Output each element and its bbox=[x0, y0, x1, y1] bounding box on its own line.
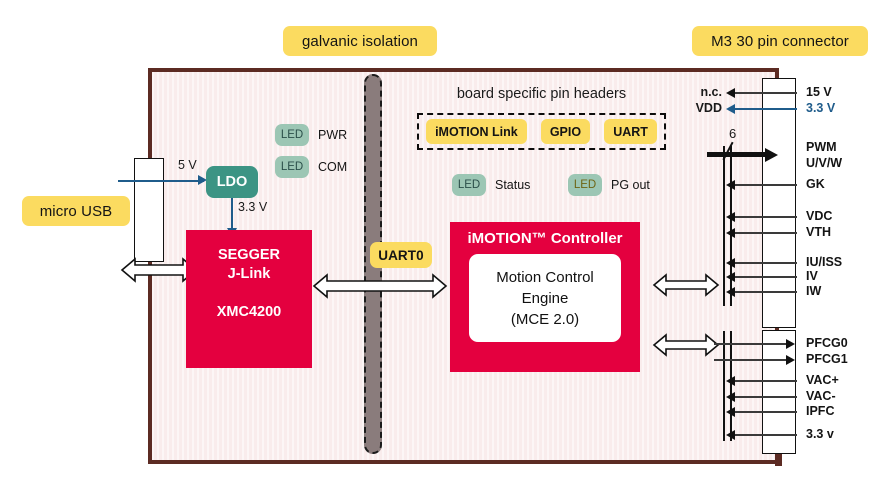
pin-lead-iw bbox=[735, 291, 797, 293]
pin-label-ipfc: IPFC bbox=[806, 404, 834, 418]
controller-bus-arrow-top bbox=[652, 272, 720, 298]
pin-headers-title: board specific pin headers bbox=[417, 86, 666, 102]
callout-galvanic-isolation: galvanic isolation bbox=[283, 26, 437, 56]
pin-lead-vdc bbox=[735, 216, 797, 218]
uart0-bidirectional-arrow bbox=[312, 272, 448, 300]
pin-lead-pwm bbox=[707, 152, 769, 157]
pin-label-pfcg1: PFCG1 bbox=[806, 352, 848, 366]
mce-line3: (MCE 2.0) bbox=[511, 309, 579, 330]
pin-lead-vacminus bbox=[735, 396, 797, 398]
pin-label-uvw: U/V/W bbox=[806, 156, 842, 170]
pin-lead-pfcg1 bbox=[714, 359, 786, 361]
pin-lead-3v3-out bbox=[735, 434, 797, 436]
callout-m3-connector: M3 30 pin connector bbox=[692, 26, 868, 56]
pin-arrow-iv bbox=[726, 272, 735, 282]
segger-line2: J-Link bbox=[228, 265, 271, 284]
pin-lead-vacplus bbox=[735, 380, 797, 382]
pin-header-uart[interactable]: UART bbox=[604, 119, 657, 144]
led-badge-pgout: LED bbox=[568, 174, 602, 196]
led-badge-com: LED bbox=[275, 156, 309, 178]
led-badge-status: LED bbox=[452, 174, 486, 196]
pin-label-iuiss: IU/ISS bbox=[806, 255, 842, 269]
pin-label-vacminus: VAC- bbox=[806, 389, 836, 403]
pin-arrow-iw bbox=[726, 287, 735, 297]
pin-arrow-3v3-out bbox=[726, 430, 735, 440]
segger-part-number: XMC4200 bbox=[217, 304, 281, 320]
label-3v3-output: 3.3 V bbox=[238, 200, 267, 214]
pwm-bus-width: 6 bbox=[729, 126, 736, 141]
pin-lead-15v bbox=[735, 92, 797, 94]
signal-bus-bottom bbox=[723, 331, 732, 441]
pin-label-vth: VTH bbox=[806, 225, 831, 239]
pin-header-imotion-link[interactable]: iMOTION Link bbox=[426, 119, 527, 144]
power-line-3v3 bbox=[231, 198, 233, 232]
block-segger-jlink: SEGGER J-Link XMC4200 bbox=[186, 230, 312, 368]
led-caption-pwr: PWR bbox=[318, 128, 347, 142]
imotion-title: iMOTION™ Controller bbox=[468, 230, 623, 247]
pin-arrow-vacplus bbox=[726, 376, 735, 386]
pin-header-gpio[interactable]: GPIO bbox=[541, 119, 590, 144]
pin-arrow-15v bbox=[726, 88, 735, 98]
pin-lead-vth bbox=[735, 232, 797, 234]
pin-label-pwm: PWM bbox=[806, 140, 837, 154]
pin-lead-iv bbox=[735, 276, 797, 278]
callout-micro-usb: micro USB bbox=[22, 196, 130, 226]
pin-arrow-gk bbox=[726, 180, 735, 190]
callout-uart0: UART0 bbox=[370, 242, 432, 268]
pin-label-vacplus: VAC+ bbox=[806, 373, 839, 387]
pin-label-iw: IW bbox=[806, 284, 821, 298]
led-row-pgout: LED PG out bbox=[568, 174, 650, 196]
pin-label-vdc: VDC bbox=[806, 209, 832, 223]
led-row-status: LED Status bbox=[452, 174, 530, 196]
led-caption-status: Status bbox=[495, 178, 530, 192]
pin-arrow-pwm bbox=[765, 148, 778, 162]
pin-left-label-vdd: VDD bbox=[676, 101, 722, 115]
led-row-pwr: LED PWR bbox=[275, 124, 347, 146]
pin-label-3v3-in: 3.3 V bbox=[806, 101, 835, 115]
mce-line1: Motion Control bbox=[496, 267, 594, 288]
led-caption-pgout: PG out bbox=[611, 178, 650, 192]
led-caption-com: COM bbox=[318, 160, 347, 174]
pin-arrow-ipfc bbox=[726, 407, 735, 417]
led-row-com: LED COM bbox=[275, 156, 347, 178]
pin-label-3v3-out: 3.3 v bbox=[806, 427, 834, 441]
segger-line1: SEGGER bbox=[218, 246, 280, 265]
block-ldo: LDO bbox=[206, 166, 258, 198]
pin-lead-ipfc bbox=[735, 411, 797, 413]
micro-usb-connector bbox=[134, 158, 164, 262]
controller-bus-arrow-bottom bbox=[652, 332, 720, 358]
pin-arrow-vdc bbox=[726, 212, 735, 222]
pin-left-label-nc: n.c. bbox=[676, 85, 722, 99]
pin-arrow-iuiss bbox=[726, 258, 735, 268]
pin-label-iv: IV bbox=[806, 269, 818, 283]
pin-arrow-pfcg0 bbox=[786, 339, 795, 349]
pin-arrow-vacminus bbox=[726, 392, 735, 402]
mce-line2: Engine bbox=[522, 288, 569, 309]
m3-connector-tail bbox=[775, 454, 782, 466]
block-motion-control-engine: Motion Control Engine (MCE 2.0) bbox=[469, 254, 621, 342]
label-5v-input: 5 V bbox=[178, 158, 197, 172]
pin-arrow-pfcg1 bbox=[786, 355, 795, 365]
pin-label-gk: GK bbox=[806, 177, 825, 191]
pin-lead-pfcg0 bbox=[714, 343, 786, 345]
pin-arrow-vth bbox=[726, 228, 735, 238]
block-imotion-controller: iMOTION™ Controller Motion Control Engin… bbox=[450, 222, 640, 372]
pin-headers-group: iMOTION Link GPIO UART bbox=[417, 113, 666, 150]
signal-bus-top bbox=[723, 146, 732, 306]
pin-arrow-3v3-in bbox=[726, 104, 735, 114]
pin-label-15v: 15 V bbox=[806, 85, 832, 99]
pin-lead-3v3-in bbox=[735, 108, 797, 110]
pin-lead-iuiss bbox=[735, 262, 797, 264]
led-badge-pwr: LED bbox=[275, 124, 309, 146]
pin-label-pfcg0: PFCG0 bbox=[806, 336, 848, 350]
pin-lead-gk bbox=[735, 184, 797, 186]
power-line-5v bbox=[118, 180, 204, 182]
